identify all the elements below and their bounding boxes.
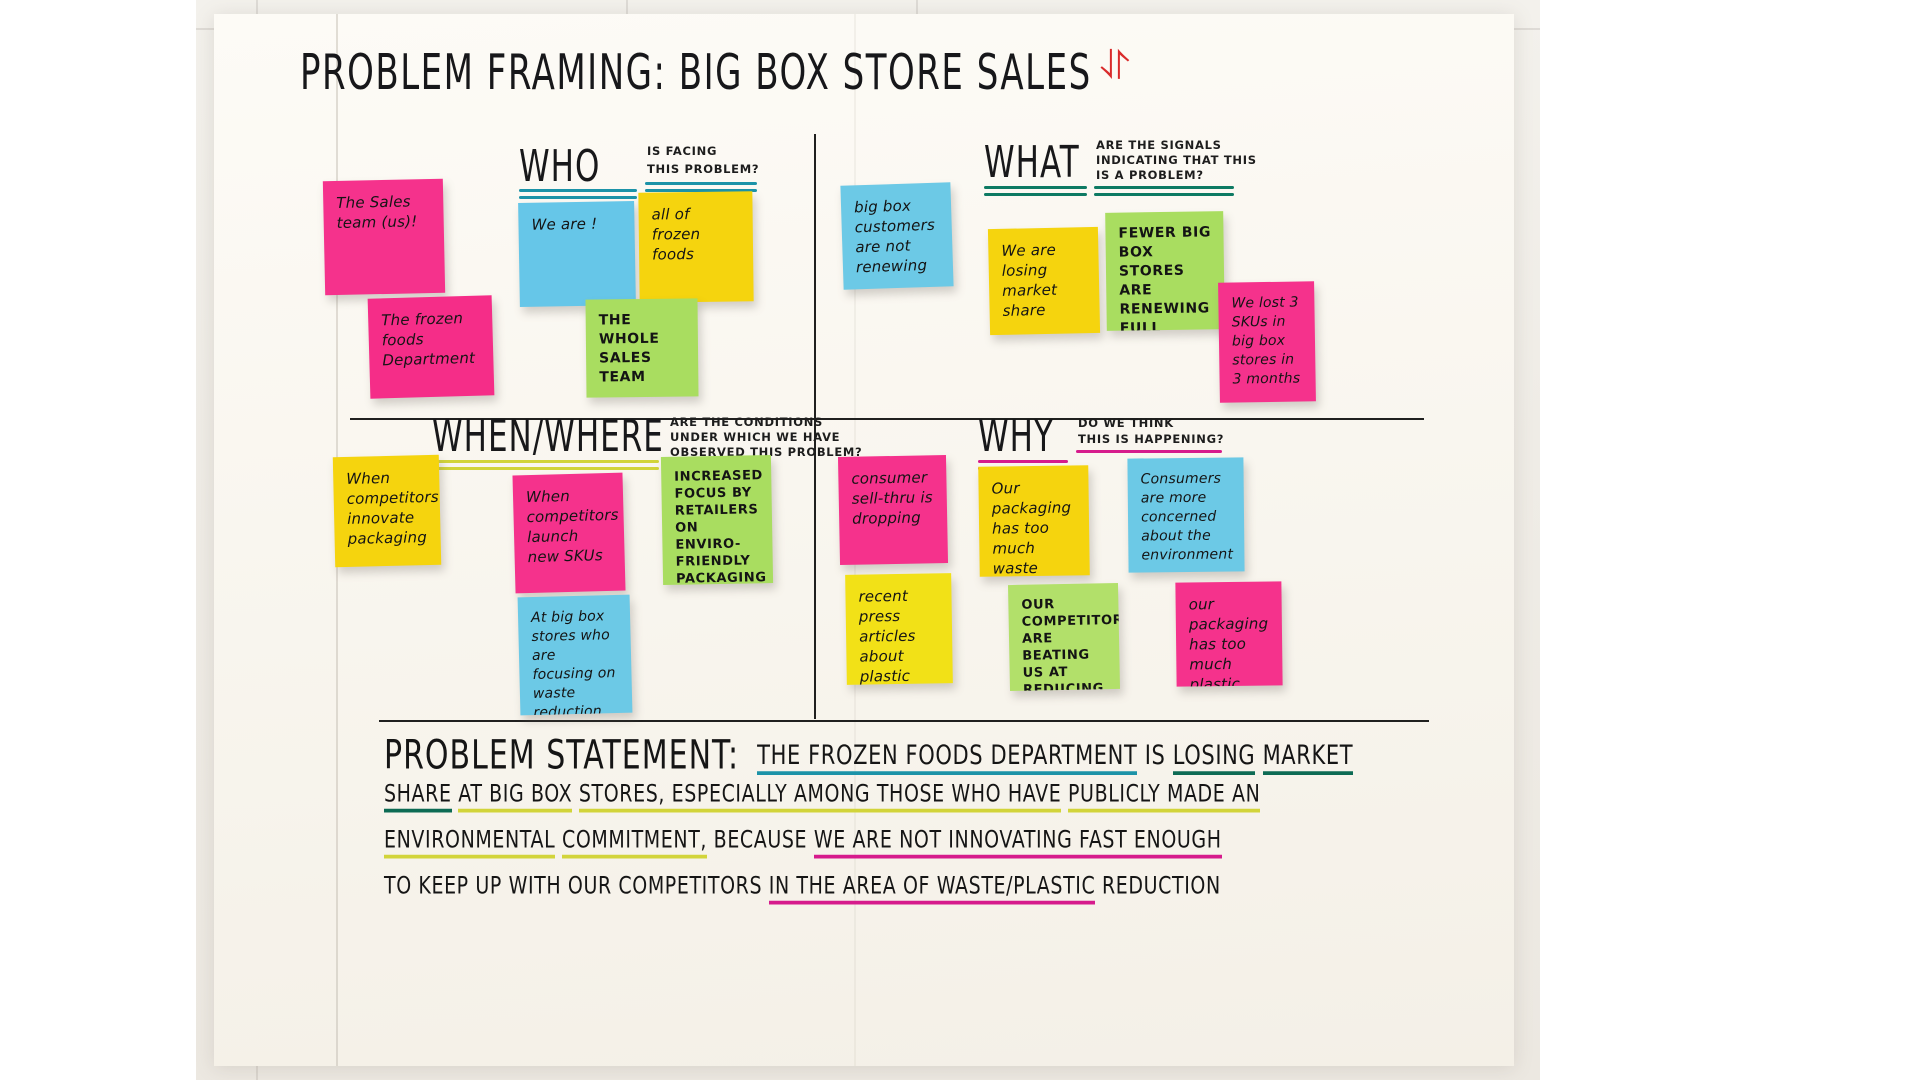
quadrant-sub-what-1: ARE THE SIGNALS (1096, 138, 1222, 152)
when-underline-1 (432, 460, 659, 463)
sticky-note[interactable]: The Sales team (us)! (323, 179, 445, 295)
sticky-note[interactable]: When competitors innovate packaging (333, 455, 441, 567)
problem-statement-divider (379, 720, 1429, 722)
ps-seg-share: SHARE (384, 780, 452, 813)
sticky-note-text: When competitors innovate packaging (346, 467, 430, 549)
sticky-note-text: recent press articles about plastic (858, 585, 942, 684)
ps-seg-innovating: WE ARE NOT INNOVATING FAST ENOUGH (814, 826, 1222, 859)
sticky-note[interactable]: our packaging has too much plastic (1175, 581, 1282, 686)
ps-seg-stores-especially: STORES, ESPECIALLY AMONG THOSE WHO HAVE (579, 780, 1061, 813)
ps-seg-space4 (1061, 780, 1068, 808)
ps-seg-atbigbox: AT BIG BOX (458, 780, 572, 813)
problem-statement-line-3: ENVIRONMENTAL COMMITMENT, BECAUSE WE ARE… (384, 826, 1430, 866)
sticky-note[interactable]: Our packaging has too much waste (978, 465, 1090, 577)
ps-seg-space3 (572, 780, 579, 808)
quadrant-title-why: WHY (978, 412, 1054, 462)
sticky-note-text: FEWER BIG BOX STORES ARE RENEWING FULL O… (1118, 223, 1214, 330)
sticky-note-text: our packaging has too much plastic (1189, 593, 1272, 686)
quadrant-sub-why-1: DO WE THINK (1078, 416, 1174, 430)
quadrant-sub-what-3: IS A PROBLEM? (1096, 168, 1204, 182)
quadrant-sub-what-2: INDICATING THAT THIS (1096, 153, 1257, 167)
quadrant-header-why: WHY DO WE THINK THIS IS HAPPENING? (978, 412, 1054, 448)
when-underline-2 (432, 467, 659, 470)
sticky-note-text: consumer sell-thru is dropping (851, 467, 936, 529)
quadrant-title-when-where: WHEN/WHERE (432, 412, 664, 462)
sticky-note-text: big box customers are not renewing (854, 195, 942, 278)
sticky-note[interactable]: OUR COMPETITORS ARE BEATING US AT REDUCI… (1008, 583, 1120, 691)
problem-statement-heading: PROBLEM STATEMENT: (384, 732, 739, 779)
sticky-note[interactable]: big box customers are not renewing (840, 182, 953, 289)
page-margin-left (0, 0, 196, 1080)
sticky-note[interactable]: recent press articles about plastic (845, 573, 953, 685)
who-underline-2 (519, 196, 637, 199)
quadrant-title-what: WHAT (984, 138, 1080, 188)
sticky-note-text: The Sales team (us)! (336, 191, 433, 233)
ps-seg-space5 (555, 826, 562, 854)
ps-seg-reduction: REDUCTION (1095, 872, 1220, 900)
sticky-note[interactable]: FEWER BIG BOX STORES ARE RENEWING FULL O… (1105, 211, 1225, 331)
poster-paper: PROBLEM FRAMING: BIG BOX STORE SALES ⥯ W… (214, 14, 1514, 1066)
down-arrow-icon: ⥯ (1100, 46, 1130, 86)
why-sub-underline-1 (1076, 450, 1222, 453)
sticky-note[interactable]: all of frozen foods (638, 191, 753, 302)
sticky-note[interactable]: Consumers are more concerned about the e… (1127, 457, 1244, 572)
sticky-note-text: The frozen foods Department (381, 308, 483, 371)
sticky-note[interactable]: INCREASED FOCUS BY RETAILERS ON ENVIRO-F… (661, 455, 773, 585)
sticky-note[interactable]: The frozen foods Department (368, 295, 495, 398)
ps-seg-losing: LOSING (1173, 740, 1256, 775)
who-sub-underline-1 (645, 182, 757, 185)
sticky-note-text: At big box stores who are focusing on wa… (531, 607, 622, 715)
sticky-note[interactable]: THE WHOLE SALES TEAM (585, 298, 698, 397)
ps-seg-department: THE FROZEN FOODS DEPARTMENT (757, 740, 1137, 775)
quadrant-header-when-where: WHEN/WHERE ARE THE CONDITIONS UNDER WHIC… (432, 412, 664, 448)
sticky-note-text: all of frozen foods (651, 203, 742, 264)
quadrant-header-what: WHAT ARE THE SIGNALS INDICATING THAT THI… (984, 138, 1080, 174)
sticky-note-text: We lost 3 SKUs in big box stores in 3 mo… (1231, 293, 1304, 389)
ps-seg-market: MARKET (1263, 740, 1354, 775)
sticky-note-text: OUR COMPETITORS ARE BEATING US AT REDUCI… (1021, 595, 1109, 691)
ps-seg-publicly: PUBLICLY MADE AN (1068, 780, 1260, 813)
page-title: PROBLEM FRAMING: BIG BOX STORE SALES (300, 44, 1092, 102)
sticky-note[interactable]: consumer sell-thru is dropping (838, 455, 948, 565)
ps-seg-is: IS (1137, 740, 1172, 770)
wall-background: PROBLEM FRAMING: BIG BOX STORE SALES ⥯ W… (196, 0, 1540, 1080)
what-sub-underline-1 (1094, 186, 1234, 189)
sticky-note[interactable]: We lost 3 SKUs in big box stores in 3 mo… (1218, 281, 1316, 402)
quadrant-sub-why-2: THIS IS HAPPENING? (1078, 432, 1224, 446)
quadrant-sub-when-2: UNDER WHICH WE HAVE (670, 430, 840, 444)
problem-statement-line-4: TO KEEP UP WITH OUR COMPETITORS IN THE A… (384, 872, 1430, 912)
sticky-note-text: Our packaging has too much waste (991, 477, 1078, 576)
ps-seg-commitment: COMMITMENT, (562, 826, 707, 859)
ps-seg-environmental: ENVIRONMENTAL (384, 826, 555, 859)
sticky-note[interactable]: At big box stores who are focusing on wa… (518, 595, 633, 716)
page-margin-right (1540, 0, 1920, 1080)
ps-seg-area-waste: IN THE AREA OF WASTE/PLASTIC (769, 872, 1096, 905)
sticky-note-text: Consumers are more concerned about the e… (1141, 470, 1234, 566)
sticky-note[interactable]: We are ! (518, 201, 636, 307)
quadrant-sub-when-1: ARE THE CONDITIONS (670, 415, 823, 429)
ps-seg-because: BECAUSE (707, 826, 814, 854)
ps-seg-keepup: TO KEEP UP WITH OUR COMPETITORS (384, 872, 769, 900)
what-sub-underline-2 (1094, 193, 1234, 196)
problem-statement-line-2: SHARE AT BIG BOX STORES, ESPECIALLY AMON… (384, 780, 1430, 820)
sticky-note-text: INCREASED FOCUS BY RETAILERS ON ENVIRO-F… (674, 467, 762, 585)
what-underline-1 (984, 186, 1087, 189)
quadrant-header-who: WHO IS FACING THIS PROBLEM? (519, 142, 600, 178)
quadrant-title-who: WHO (519, 142, 600, 192)
why-underline-1 (978, 460, 1068, 463)
sticky-note-text: When competitors launch new SKUs (526, 485, 614, 567)
quadrant-sub-who-2: THIS PROBLEM? (647, 162, 759, 176)
who-underline-1 (519, 189, 637, 192)
what-underline-2 (984, 193, 1087, 196)
quadrant-sub-who-1: IS FACING (647, 144, 717, 158)
problem-statement-line-1: PROBLEM STATEMENT:THE FROZEN FOODS DEPAR… (384, 732, 1430, 774)
sticky-note-text: We are losing market share (1001, 239, 1089, 321)
sticky-note[interactable]: We are losing market share (988, 227, 1100, 335)
sticky-note-text: THE WHOLE SALES TEAM (599, 311, 688, 388)
sticky-note-text: We are ! (531, 213, 623, 235)
sticky-note[interactable]: When competitors launch new SKUs (512, 473, 625, 594)
problem-statement: PROBLEM STATEMENT:THE FROZEN FOODS DEPAR… (384, 732, 1430, 912)
whiteboard-photo: PROBLEM FRAMING: BIG BOX STORE SALES ⥯ W… (0, 0, 1920, 1080)
